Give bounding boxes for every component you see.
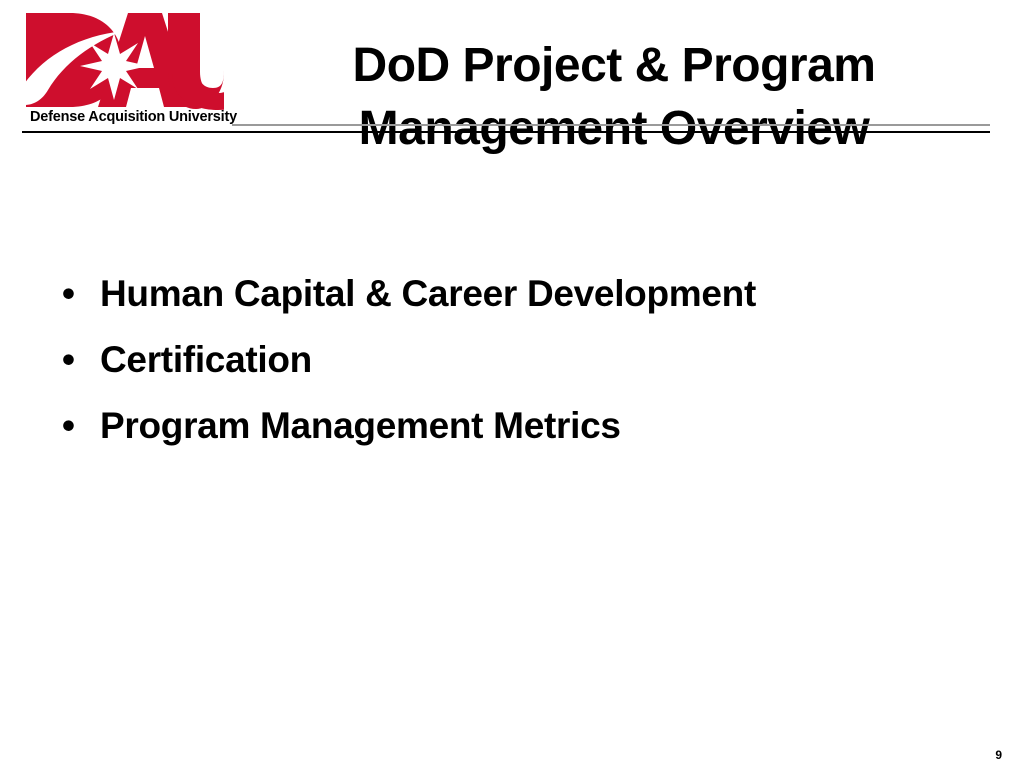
page-title-line-1: DoD Project & Program (353, 39, 876, 92)
list-item: • Program Management Metrics (58, 402, 978, 468)
dau-logo: Defense Acquisition University (22, 10, 224, 130)
list-item-label: Program Management Metrics (100, 405, 621, 446)
bullet-marker-icon: • (62, 402, 75, 450)
page-title-line-2: Management Overview (359, 102, 870, 155)
slide-header: Defense Acquisition University DoD Proje… (0, 0, 1024, 138)
page-number: 9 (995, 748, 1002, 762)
list-item-label: Certification (100, 339, 312, 380)
logo-letter-u-body (172, 13, 224, 110)
bullet-list: • Human Capital & Career Development • C… (58, 270, 978, 468)
header-divider-thick (22, 131, 990, 133)
page-title: DoD Project & Program Management Overvie… (236, 34, 992, 160)
logo-tagline: Defense Acquisition University (30, 109, 226, 125)
bullet-marker-icon: • (62, 336, 75, 384)
header-divider-thin (232, 124, 990, 126)
dau-logo-mark (22, 10, 224, 110)
list-item-label: Human Capital & Career Development (100, 273, 756, 314)
list-item: • Certification (58, 336, 978, 402)
list-item: • Human Capital & Career Development (58, 270, 978, 336)
slide-canvas: Defense Acquisition University DoD Proje… (0, 0, 1024, 768)
bullet-marker-icon: • (62, 270, 75, 318)
